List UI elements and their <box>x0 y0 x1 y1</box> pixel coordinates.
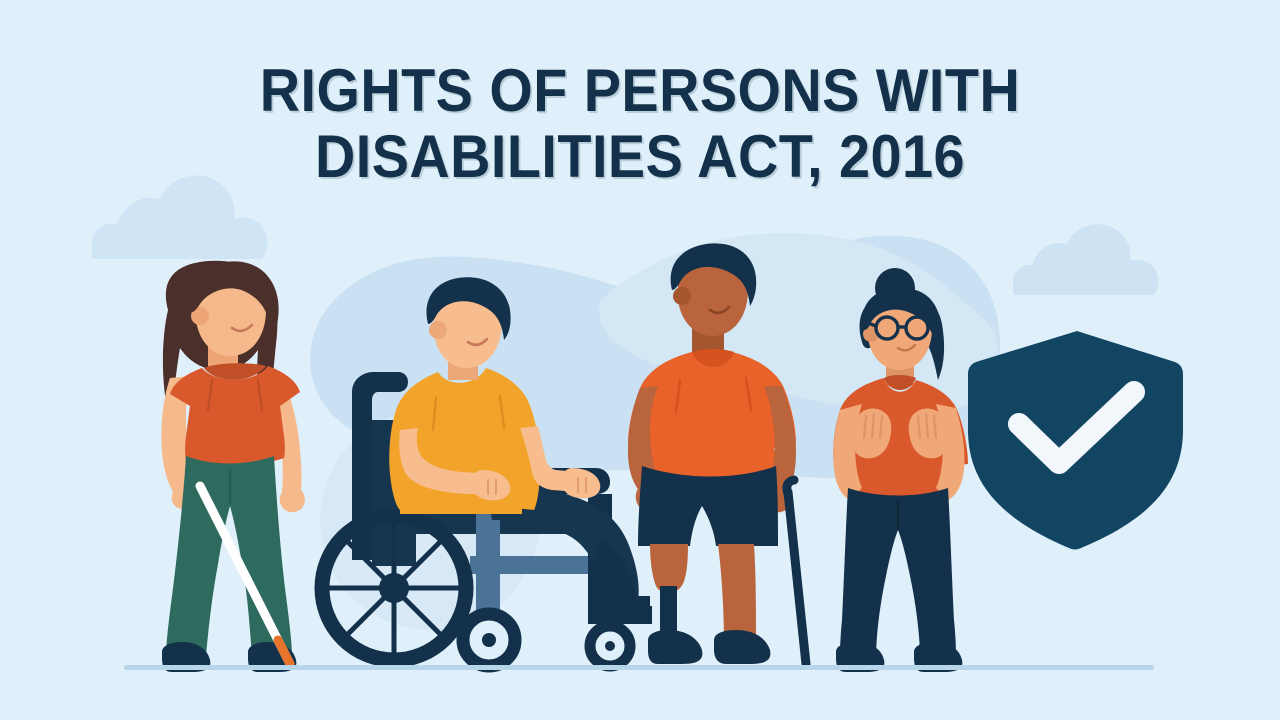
shield-and-ground-layer <box>0 0 1280 720</box>
poster-canvas: RIGHTS OF PERSONS WITH DISABILITIES ACT,… <box>0 0 1280 720</box>
ground-line <box>124 665 1154 670</box>
